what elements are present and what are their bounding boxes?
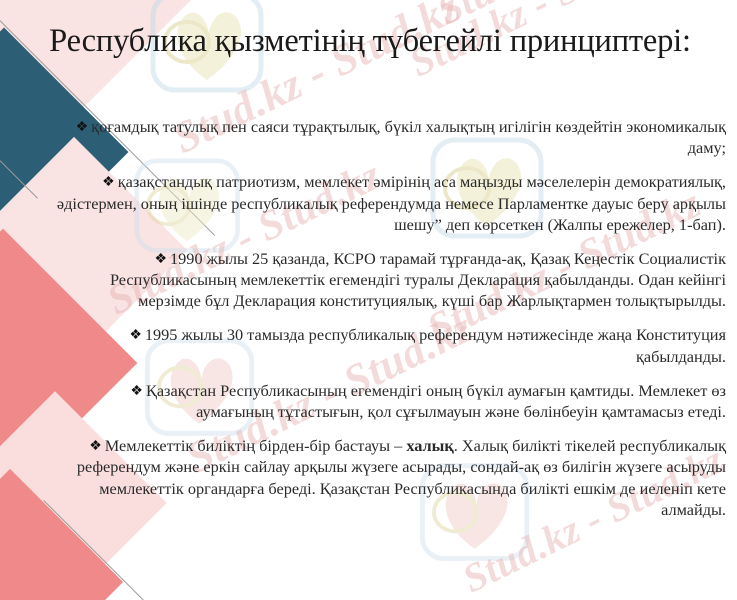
list-item: ❖1995 жылы 30 тамызда республикалық рефе… [56,324,726,366]
bullet-marker-icon: ❖ [130,384,146,399]
list-item-text: қазақстандық патриотизм, мемлекет әмірін… [57,172,726,233]
list-item: ❖Қазақстан Республикасының егемендігі он… [56,380,726,422]
slide-content: Республика қызметінің түбегейлі принципт… [0,0,737,600]
list-item-text: Қазақстан Республикасының егемендігі оны… [146,381,726,421]
list-item-text: 1995 жылы 30 тамызда республикалық рефер… [145,325,726,365]
list-item-text: 1990 жылы 25 қазанда, КСРО тарамай тұрға… [110,249,726,310]
bullet-marker-icon: ❖ [154,252,170,267]
bullet-marker-icon: ❖ [102,175,118,190]
page-title: Республика қызметінің түбегейлі принципт… [40,22,700,62]
bullet-marker-icon: ❖ [129,328,145,343]
list-item: ❖қоғамдық татулық пен саяси тұрақтылық, … [56,116,726,158]
list-item-text: қоғамдық татулық пен саяси тұрақтылық, б… [91,117,726,157]
slide-canvas: Stud.kz - Stud.kz Stud.kz - Stud.kz Stud… [0,0,737,600]
bullet-list: ❖қоғамдық татулық пен саяси тұрақтылық, … [56,116,726,533]
list-item-text: Мемлекеттік биліктің бірден-бір бастауы … [77,436,726,519]
list-item: ❖қазақстандық патриотизм, мемлекет әмірі… [56,171,726,235]
bullet-marker-icon: ❖ [76,120,92,135]
bullet-marker-icon: ❖ [89,439,105,454]
list-item: ❖Мемлекеттік биліктің бірден-бір бастауы… [56,435,726,520]
list-item: ❖1990 жылы 25 қазанда, КСРО тарамай тұрғ… [56,248,726,312]
